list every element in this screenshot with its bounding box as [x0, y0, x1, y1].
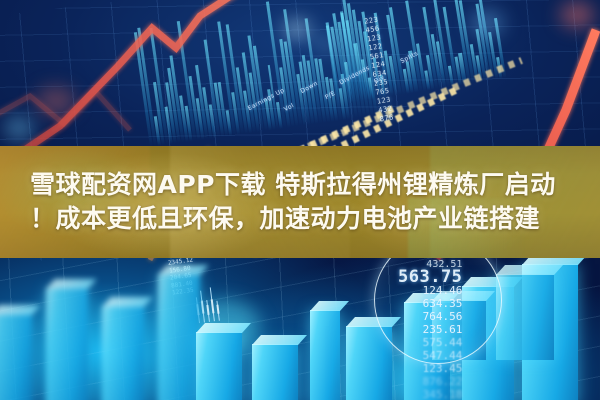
ticker-value: 345.18 — [423, 388, 463, 400]
ticker-value: 575.44 — [423, 336, 463, 349]
headline-text-block: 雪球配资网APP下载 特斯拉得州锂精炼厂启动 ！成本更低且环保，加速动力电池产业… — [0, 146, 600, 258]
ticker-value: 764.56 — [423, 310, 463, 323]
news-banner-image: Earnings UpDownDividendsSplitsVolP/EDiv … — [0, 0, 600, 400]
ticker-value: 235.61 — [423, 323, 463, 336]
trend-line-secondary — [0, 92, 130, 130]
ticker-value: 634.35 — [423, 297, 463, 310]
ticker-value: 563.75 — [398, 271, 462, 284]
headline-line-2: ！成本更低且环保，加速动力电池产业链搭建 — [30, 202, 570, 236]
ticker-value: 547.44 — [423, 349, 463, 362]
headline-line-1: 雪球配资网APP下载 特斯拉得州锂精炼厂启动 — [30, 168, 570, 202]
ticker-value: 124.46 — [423, 284, 463, 297]
ticker-value: 876.22 — [423, 375, 463, 388]
ticker-value: 432.51 — [426, 258, 462, 271]
ticker-value: 123.45 — [423, 362, 463, 375]
